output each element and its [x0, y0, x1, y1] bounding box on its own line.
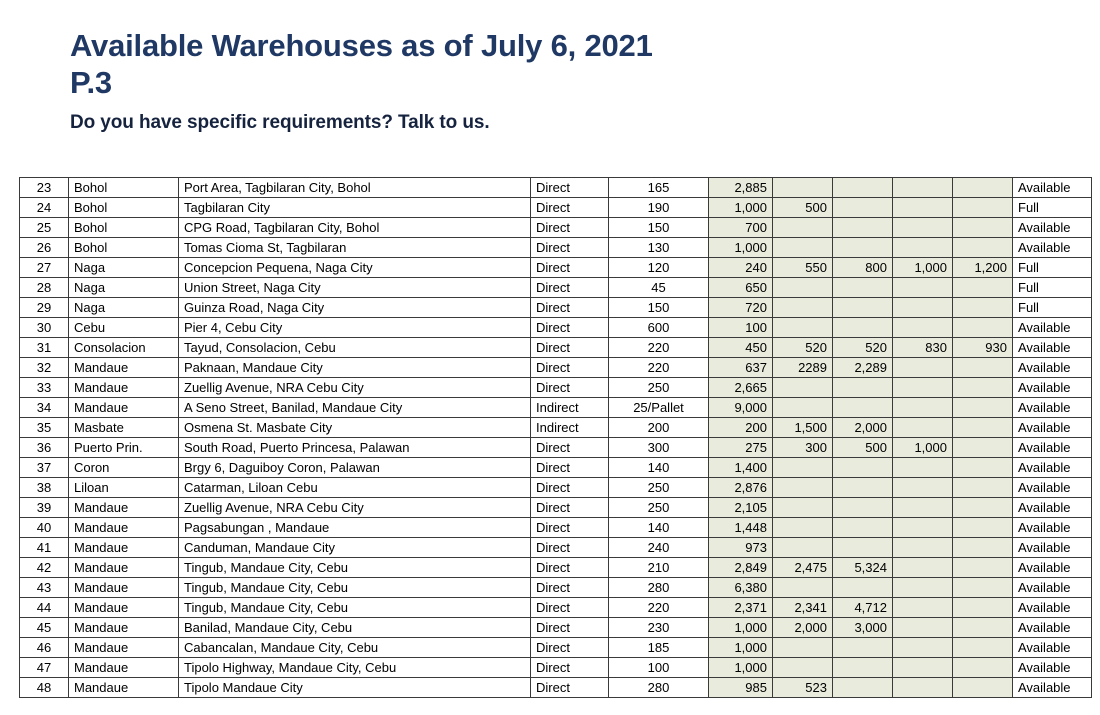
table-row: 40MandauePagsabungan , MandaueDirect1401…: [20, 518, 1092, 538]
cell-status: Available: [1013, 578, 1092, 598]
cell-area-5: [953, 478, 1013, 498]
cell-index: 25: [20, 218, 69, 238]
cell-area-4: [893, 618, 953, 638]
cell-status: Available: [1013, 358, 1092, 378]
cell-type: Direct: [531, 178, 609, 198]
cell-area-3: [833, 478, 893, 498]
cell-address: Tomas Cioma St, Tagbilaran: [179, 238, 531, 258]
cell-address: Catarman, Liloan Cebu: [179, 478, 531, 498]
table-row: 44MandaueTingub, Mandaue City, CebuDirec…: [20, 598, 1092, 618]
cell-status: Full: [1013, 258, 1092, 278]
cell-area-1: 720: [709, 298, 773, 318]
cell-area-2: [773, 298, 833, 318]
cell-status: Available: [1013, 598, 1092, 618]
cell-area-3: 3,000: [833, 618, 893, 638]
cell-area-4: [893, 378, 953, 398]
cell-index: 30: [20, 318, 69, 338]
cell-area-1: 650: [709, 278, 773, 298]
cell-area-2: [773, 398, 833, 418]
cell-location: Naga: [69, 278, 179, 298]
cell-index: 39: [20, 498, 69, 518]
cell-address: Tipolo Mandaue City: [179, 678, 531, 698]
cell-address: Tingub, Mandaue City, Cebu: [179, 598, 531, 618]
table-row: 46MandaueCabancalan, Mandaue City, CebuD…: [20, 638, 1092, 658]
cell-area-2: [773, 318, 833, 338]
cell-index: 40: [20, 518, 69, 538]
cell-area-4: [893, 458, 953, 478]
cell-area-1: 200: [709, 418, 773, 438]
cell-address: Concepcion Pequena, Naga City: [179, 258, 531, 278]
cell-type: Direct: [531, 278, 609, 298]
cell-area-3: [833, 198, 893, 218]
cell-address: Banilad, Mandaue City, Cebu: [179, 618, 531, 638]
cell-type: Direct: [531, 498, 609, 518]
cell-area-3: [833, 638, 893, 658]
warehouse-table-container: 23BoholPort Area, Tagbilaran City, Bohol…: [19, 177, 1091, 698]
cell-index: 24: [20, 198, 69, 218]
cell-area-3: 4,712: [833, 598, 893, 618]
cell-area-5: [953, 538, 1013, 558]
cell-index: 23: [20, 178, 69, 198]
table-row: 42MandaueTingub, Mandaue City, CebuDirec…: [20, 558, 1092, 578]
cell-area-1: 9,000: [709, 398, 773, 418]
cell-location: Mandaue: [69, 618, 179, 638]
cell-area-4: [893, 498, 953, 518]
cell-area-2: 2289: [773, 358, 833, 378]
cell-address: A Seno Street, Banilad, Mandaue City: [179, 398, 531, 418]
cell-area-5: [953, 678, 1013, 698]
cell-address: Pagsabungan , Mandaue: [179, 518, 531, 538]
cell-area-4: [893, 278, 953, 298]
cell-index: 43: [20, 578, 69, 598]
cell-area-5: [953, 618, 1013, 638]
cell-area-3: [833, 318, 893, 338]
cell-rate: 165: [609, 178, 709, 198]
cell-area-3: [833, 458, 893, 478]
cell-rate: 25/Pallet: [609, 398, 709, 418]
cell-index: 38: [20, 478, 69, 498]
table-row: 37CoronBrgy 6, Daguiboy Coron, PalawanDi…: [20, 458, 1092, 478]
cell-area-1: 985: [709, 678, 773, 698]
cell-index: 42: [20, 558, 69, 578]
cell-address: Brgy 6, Daguiboy Coron, Palawan: [179, 458, 531, 478]
cell-rate: 600: [609, 318, 709, 338]
cell-location: Consolacion: [69, 338, 179, 358]
cell-area-2: 523: [773, 678, 833, 698]
cell-area-5: [953, 558, 1013, 578]
cell-location: Coron: [69, 458, 179, 478]
cell-type: Direct: [531, 598, 609, 618]
cell-area-1: 700: [709, 218, 773, 238]
cell-type: Direct: [531, 678, 609, 698]
cell-area-1: 450: [709, 338, 773, 358]
cell-type: Direct: [531, 338, 609, 358]
cell-rate: 100: [609, 658, 709, 678]
cell-area-1: 240: [709, 258, 773, 278]
cell-rate: 150: [609, 218, 709, 238]
cell-area-3: [833, 518, 893, 538]
cell-location: Mandaue: [69, 558, 179, 578]
cell-area-1: 1,000: [709, 658, 773, 678]
cell-area-3: [833, 578, 893, 598]
cell-area-3: 2,289: [833, 358, 893, 378]
cell-location: Mandaue: [69, 498, 179, 518]
cell-index: 47: [20, 658, 69, 678]
cell-location: Bohol: [69, 198, 179, 218]
table-row: 28NagaUnion Street, Naga CityDirect45650…: [20, 278, 1092, 298]
cell-type: Direct: [531, 558, 609, 578]
table-row: 32MandauePaknaan, Mandaue CityDirect2206…: [20, 358, 1092, 378]
cell-address: Zuellig Avenue, NRA Cebu City: [179, 378, 531, 398]
cell-address: Tagbilaran City: [179, 198, 531, 218]
cell-type: Direct: [531, 198, 609, 218]
cell-status: Available: [1013, 178, 1092, 198]
cell-area-4: [893, 198, 953, 218]
cell-location: Bohol: [69, 178, 179, 198]
cell-type: Direct: [531, 658, 609, 678]
cell-location: Mandaue: [69, 358, 179, 378]
cell-status: Available: [1013, 418, 1092, 438]
cell-area-5: [953, 298, 1013, 318]
cell-area-1: 2,849: [709, 558, 773, 578]
cell-type: Direct: [531, 638, 609, 658]
cell-type: Direct: [531, 238, 609, 258]
cell-address: Pier 4, Cebu City: [179, 318, 531, 338]
cell-rate: 150: [609, 298, 709, 318]
cell-rate: 185: [609, 638, 709, 658]
cell-area-3: 500: [833, 438, 893, 458]
cell-area-2: [773, 498, 833, 518]
cell-area-2: [773, 178, 833, 198]
cell-rate: 220: [609, 358, 709, 378]
cell-status: Available: [1013, 618, 1092, 638]
cell-area-5: 1,200: [953, 258, 1013, 278]
cell-status: Available: [1013, 218, 1092, 238]
table-row: 48MandaueTipolo Mandaue CityDirect280985…: [20, 678, 1092, 698]
cell-status: Available: [1013, 658, 1092, 678]
cell-location: Mandaue: [69, 638, 179, 658]
cell-type: Indirect: [531, 398, 609, 418]
cell-type: Direct: [531, 258, 609, 278]
cell-area-4: [893, 658, 953, 678]
cell-area-2: [773, 578, 833, 598]
cell-index: 44: [20, 598, 69, 618]
cell-area-4: [893, 558, 953, 578]
cell-area-3: [833, 278, 893, 298]
cell-location: Cebu: [69, 318, 179, 338]
cell-area-3: [833, 298, 893, 318]
cell-location: Mandaue: [69, 578, 179, 598]
cell-address: Tipolo Highway, Mandaue City, Cebu: [179, 658, 531, 678]
table-row: 35MasbateOsmena St. Masbate CityIndirect…: [20, 418, 1092, 438]
cell-rate: 220: [609, 598, 709, 618]
cell-area-1: 1,000: [709, 238, 773, 258]
table-row: 29NagaGuinza Road, Naga CityDirect150720…: [20, 298, 1092, 318]
cell-area-1: 2,885: [709, 178, 773, 198]
cell-rate: 250: [609, 498, 709, 518]
cell-address: Union Street, Naga City: [179, 278, 531, 298]
document-page: Available Warehouses as of July 6, 2021 …: [0, 0, 1100, 715]
cell-area-2: [773, 218, 833, 238]
cell-status: Available: [1013, 478, 1092, 498]
cell-area-2: 2,000: [773, 618, 833, 638]
cell-status: Available: [1013, 398, 1092, 418]
cell-type: Direct: [531, 538, 609, 558]
cell-area-1: 1,000: [709, 618, 773, 638]
cell-area-2: [773, 538, 833, 558]
cell-address: Tingub, Mandaue City, Cebu: [179, 578, 531, 598]
cell-index: 45: [20, 618, 69, 638]
cell-status: Available: [1013, 438, 1092, 458]
cell-rate: 140: [609, 518, 709, 538]
cell-status: Available: [1013, 558, 1092, 578]
cell-area-2: [773, 518, 833, 538]
cell-index: 48: [20, 678, 69, 698]
cell-location: Mandaue: [69, 538, 179, 558]
cell-area-4: [893, 638, 953, 658]
cell-area-5: [953, 398, 1013, 418]
cell-area-5: [953, 318, 1013, 338]
cell-area-2: [773, 278, 833, 298]
cell-area-3: [833, 398, 893, 418]
cell-area-2: [773, 638, 833, 658]
table-row: 23BoholPort Area, Tagbilaran City, Bohol…: [20, 178, 1092, 198]
warehouse-table: 23BoholPort Area, Tagbilaran City, Bohol…: [19, 177, 1092, 698]
cell-rate: 300: [609, 438, 709, 458]
cell-location: Bohol: [69, 218, 179, 238]
table-row: 47MandaueTipolo Highway, Mandaue City, C…: [20, 658, 1092, 678]
cell-area-5: [953, 458, 1013, 478]
cell-area-5: [953, 578, 1013, 598]
cell-type: Direct: [531, 378, 609, 398]
table-row: 38LiloanCatarman, Liloan CebuDirect2502,…: [20, 478, 1092, 498]
cell-location: Mandaue: [69, 598, 179, 618]
cell-location: Puerto Prin.: [69, 438, 179, 458]
cell-type: Direct: [531, 578, 609, 598]
cell-type: Indirect: [531, 418, 609, 438]
cell-status: Available: [1013, 318, 1092, 338]
cell-area-2: 520: [773, 338, 833, 358]
cell-area-4: 830: [893, 338, 953, 358]
warehouse-table-body: 23BoholPort Area, Tagbilaran City, Bohol…: [20, 178, 1092, 698]
cell-type: Direct: [531, 318, 609, 338]
table-row: 30CebuPier 4, Cebu CityDirect600100Avail…: [20, 318, 1092, 338]
cell-index: 37: [20, 458, 69, 478]
cell-location: Liloan: [69, 478, 179, 498]
cell-rate: 240: [609, 538, 709, 558]
cell-address: Port Area, Tagbilaran City, Bohol: [179, 178, 531, 198]
cell-area-5: [953, 358, 1013, 378]
cell-type: Direct: [531, 358, 609, 378]
cell-type: Direct: [531, 518, 609, 538]
cell-area-5: [953, 178, 1013, 198]
cell-area-3: [833, 218, 893, 238]
cell-area-1: 1,000: [709, 198, 773, 218]
cell-type: Direct: [531, 218, 609, 238]
cell-type: Direct: [531, 458, 609, 478]
cell-index: 36: [20, 438, 69, 458]
cell-area-2: [773, 658, 833, 678]
cell-index: 35: [20, 418, 69, 438]
cell-area-2: 550: [773, 258, 833, 278]
cell-area-4: [893, 578, 953, 598]
cell-area-3: 5,324: [833, 558, 893, 578]
cell-location: Mandaue: [69, 658, 179, 678]
cell-rate: 280: [609, 678, 709, 698]
cell-index: 32: [20, 358, 69, 378]
cell-address: Canduman, Mandaue City: [179, 538, 531, 558]
page-subtitle: Do you have specific requirements? Talk …: [70, 101, 1070, 134]
cell-address: South Road, Puerto Princesa, Palawan: [179, 438, 531, 458]
cell-index: 46: [20, 638, 69, 658]
table-row: 33MandaueZuellig Avenue, NRA Cebu CityDi…: [20, 378, 1092, 398]
cell-area-1: 973: [709, 538, 773, 558]
cell-type: Direct: [531, 618, 609, 638]
cell-area-5: [953, 498, 1013, 518]
header-block: Available Warehouses as of July 6, 2021 …: [70, 28, 1070, 134]
cell-area-4: [893, 238, 953, 258]
cell-area-1: 100: [709, 318, 773, 338]
cell-area-4: [893, 518, 953, 538]
cell-index: 31: [20, 338, 69, 358]
cell-area-1: 2,105: [709, 498, 773, 518]
cell-address: Guinza Road, Naga City: [179, 298, 531, 318]
table-row: 43MandaueTingub, Mandaue City, CebuDirec…: [20, 578, 1092, 598]
cell-area-5: [953, 218, 1013, 238]
cell-location: Mandaue: [69, 398, 179, 418]
page-title: Available Warehouses as of July 6, 2021 …: [70, 28, 1070, 101]
cell-area-3: 2,000: [833, 418, 893, 438]
cell-area-1: 275: [709, 438, 773, 458]
cell-area-1: 6,380: [709, 578, 773, 598]
cell-rate: 200: [609, 418, 709, 438]
table-row: 31ConsolacionTayud, Consolacion, CebuDir…: [20, 338, 1092, 358]
cell-area-5: [953, 518, 1013, 538]
cell-index: 28: [20, 278, 69, 298]
cell-location: Naga: [69, 298, 179, 318]
cell-area-4: [893, 178, 953, 198]
cell-area-4: [893, 678, 953, 698]
table-row: 25BoholCPG Road, Tagbilaran City, BoholD…: [20, 218, 1092, 238]
cell-area-5: [953, 278, 1013, 298]
cell-location: Mandaue: [69, 518, 179, 538]
cell-area-4: [893, 478, 953, 498]
table-row: 24BoholTagbilaran CityDirect1901,000500F…: [20, 198, 1092, 218]
table-row: 36Puerto Prin.South Road, Puerto Princes…: [20, 438, 1092, 458]
cell-area-2: 300: [773, 438, 833, 458]
cell-location: Naga: [69, 258, 179, 278]
cell-rate: 230: [609, 618, 709, 638]
cell-location: Mandaue: [69, 678, 179, 698]
cell-area-5: [953, 638, 1013, 658]
cell-index: 34: [20, 398, 69, 418]
cell-index: 27: [20, 258, 69, 278]
cell-status: Available: [1013, 518, 1092, 538]
cell-area-5: [953, 438, 1013, 458]
cell-rate: 140: [609, 458, 709, 478]
cell-rate: 45: [609, 278, 709, 298]
cell-address: Tayud, Consolacion, Cebu: [179, 338, 531, 358]
cell-rate: 190: [609, 198, 709, 218]
cell-status: Available: [1013, 458, 1092, 478]
cell-area-3: [833, 678, 893, 698]
cell-area-2: 1,500: [773, 418, 833, 438]
cell-area-1: 2,876: [709, 478, 773, 498]
cell-area-3: [833, 498, 893, 518]
cell-area-4: 1,000: [893, 258, 953, 278]
cell-address: Paknaan, Mandaue City: [179, 358, 531, 378]
cell-status: Available: [1013, 678, 1092, 698]
cell-rate: 130: [609, 238, 709, 258]
cell-location: Masbate: [69, 418, 179, 438]
cell-area-4: [893, 598, 953, 618]
cell-index: 41: [20, 538, 69, 558]
cell-area-5: [953, 598, 1013, 618]
cell-area-4: [893, 398, 953, 418]
cell-status: Available: [1013, 638, 1092, 658]
cell-area-3: 800: [833, 258, 893, 278]
table-row: 26BoholTomas Cioma St, TagbilaranDirect1…: [20, 238, 1092, 258]
cell-area-1: 1,400: [709, 458, 773, 478]
cell-area-5: [953, 198, 1013, 218]
cell-address: Osmena St. Masbate City: [179, 418, 531, 438]
cell-rate: 250: [609, 378, 709, 398]
cell-area-1: 2,665: [709, 378, 773, 398]
cell-area-4: [893, 418, 953, 438]
cell-status: Full: [1013, 298, 1092, 318]
cell-address: Zuellig Avenue, NRA Cebu City: [179, 498, 531, 518]
cell-area-2: [773, 378, 833, 398]
cell-type: Direct: [531, 438, 609, 458]
cell-area-2: 500: [773, 198, 833, 218]
cell-rate: 280: [609, 578, 709, 598]
cell-location: Mandaue: [69, 378, 179, 398]
cell-area-3: [833, 238, 893, 258]
cell-area-4: [893, 538, 953, 558]
cell-index: 29: [20, 298, 69, 318]
cell-address: CPG Road, Tagbilaran City, Bohol: [179, 218, 531, 238]
cell-area-3: [833, 378, 893, 398]
cell-area-1: 1,000: [709, 638, 773, 658]
cell-index: 33: [20, 378, 69, 398]
cell-area-4: 1,000: [893, 438, 953, 458]
cell-status: Available: [1013, 238, 1092, 258]
cell-rate: 210: [609, 558, 709, 578]
cell-area-5: [953, 418, 1013, 438]
cell-area-4: [893, 358, 953, 378]
cell-area-5: 930: [953, 338, 1013, 358]
cell-index: 26: [20, 238, 69, 258]
cell-area-2: [773, 478, 833, 498]
cell-area-3: [833, 538, 893, 558]
cell-area-2: 2,475: [773, 558, 833, 578]
cell-rate: 220: [609, 338, 709, 358]
cell-area-1: 1,448: [709, 518, 773, 538]
cell-area-1: 637: [709, 358, 773, 378]
cell-area-1: 2,371: [709, 598, 773, 618]
cell-area-5: [953, 238, 1013, 258]
cell-address: Cabancalan, Mandaue City, Cebu: [179, 638, 531, 658]
cell-area-3: [833, 178, 893, 198]
cell-status: Available: [1013, 338, 1092, 358]
cell-status: Available: [1013, 378, 1092, 398]
cell-address: Tingub, Mandaue City, Cebu: [179, 558, 531, 578]
cell-rate: 120: [609, 258, 709, 278]
cell-area-3: 520: [833, 338, 893, 358]
cell-status: Available: [1013, 538, 1092, 558]
cell-area-2: [773, 238, 833, 258]
table-row: 34MandaueA Seno Street, Banilad, Mandaue…: [20, 398, 1092, 418]
